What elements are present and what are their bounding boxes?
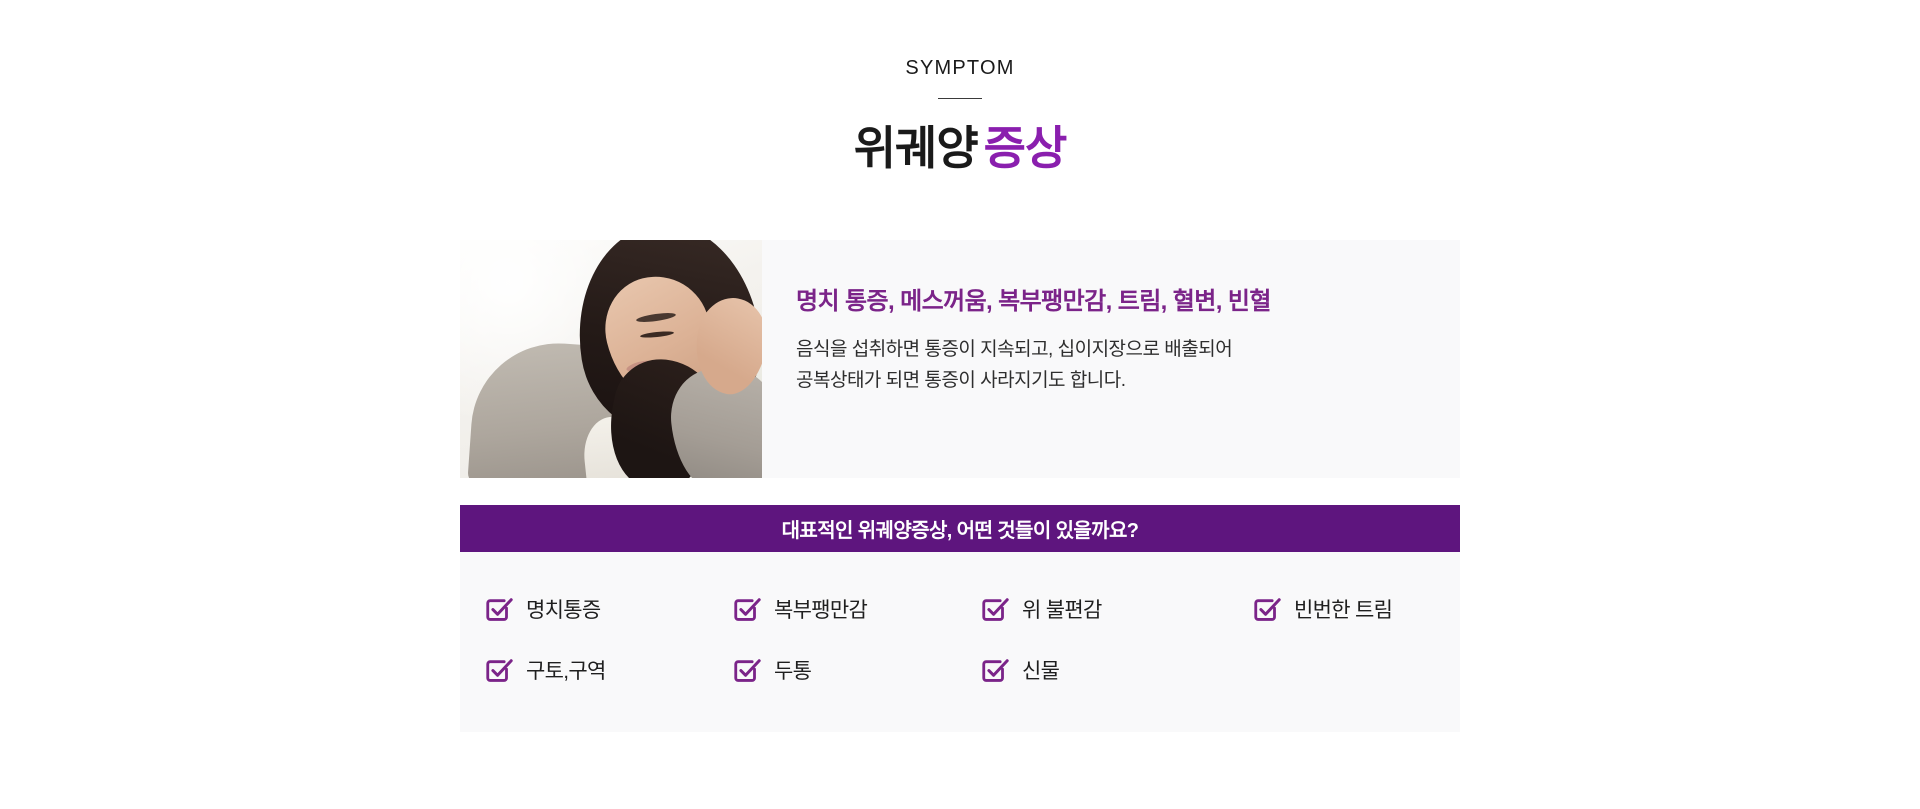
page-title-primary: 위궤양 bbox=[854, 122, 978, 174]
symptom-body-text: 음식을 섭취하면 통증이 지속되고, 십이지장으로 배출되어 공복상태가 되면 … bbox=[796, 335, 1420, 397]
list-item: 두통 bbox=[732, 641, 980, 702]
list-item-label: 복부팽만감 bbox=[774, 600, 867, 621]
list-item: 명치통증 bbox=[484, 580, 732, 641]
patient-photo bbox=[460, 240, 762, 478]
checkbox-checked-icon bbox=[484, 596, 514, 626]
checkbox-checked-icon bbox=[732, 596, 762, 626]
list-item-label: 두통 bbox=[774, 661, 811, 682]
section-eyebrow: SYMPTOM bbox=[0, 58, 1920, 78]
checkbox-checked-icon bbox=[732, 657, 762, 687]
symptom-list-grid: 명치통증 복부팽만감 위 불편감 bbox=[484, 552, 1460, 702]
symptom-list-block: 대표적인 위궤양증상, 어떤 것들이 있을까요? 명치통증 복부팽만감 bbox=[460, 505, 1460, 732]
symptom-description: 명치 통증, 메스꺼움, 복부팽만감, 트림, 혈변, 빈혈 음식을 섭취하면 … bbox=[762, 240, 1460, 478]
page-title-accent: 증상 bbox=[984, 122, 1067, 174]
checkbox-checked-icon bbox=[980, 657, 1010, 687]
list-item-label: 구토,구역 bbox=[526, 661, 606, 682]
checkbox-checked-icon bbox=[484, 657, 514, 687]
symptom-body-line-2: 공복상태가 되면 통증이 사라지기도 합니다. bbox=[796, 366, 1420, 397]
checkbox-checked-icon bbox=[980, 596, 1010, 626]
page-title: 위궤양증상 bbox=[0, 121, 1920, 176]
horizontal-rule-icon bbox=[938, 98, 982, 99]
symptom-body-line-1: 음식을 섭취하면 통증이 지속되고, 십이지장으로 배출되어 bbox=[796, 335, 1420, 366]
checkbox-checked-icon bbox=[1252, 596, 1282, 626]
symptom-list-banner: 대표적인 위궤양증상, 어떤 것들이 있을까요? bbox=[460, 505, 1460, 552]
list-item-label: 명치통증 bbox=[526, 600, 600, 621]
page-header: SYMPTOM 위궤양증상 bbox=[0, 58, 1920, 176]
list-item: 복부팽만감 bbox=[732, 580, 980, 641]
list-item: 신물 bbox=[980, 641, 1252, 702]
list-item-label: 신물 bbox=[1022, 661, 1059, 682]
symptom-info-card: 명치 통증, 메스꺼움, 복부팽만감, 트림, 혈변, 빈혈 음식을 섭취하면 … bbox=[460, 240, 1460, 478]
list-item-label: 위 불편감 bbox=[1022, 600, 1102, 621]
list-item: 위 불편감 bbox=[980, 580, 1252, 641]
list-item: 빈번한 트림 bbox=[1252, 580, 1484, 641]
list-item-label: 빈번한 트림 bbox=[1294, 600, 1392, 621]
symptom-heading: 명치 통증, 메스꺼움, 복부팽만감, 트림, 혈변, 빈혈 bbox=[796, 286, 1420, 317]
symptom-page: SYMPTOM 위궤양증상 명치 통증, 메스꺼움, 복부팽만감, 트림, 혈변… bbox=[0, 0, 1920, 809]
list-item: 구토,구역 bbox=[484, 641, 732, 702]
